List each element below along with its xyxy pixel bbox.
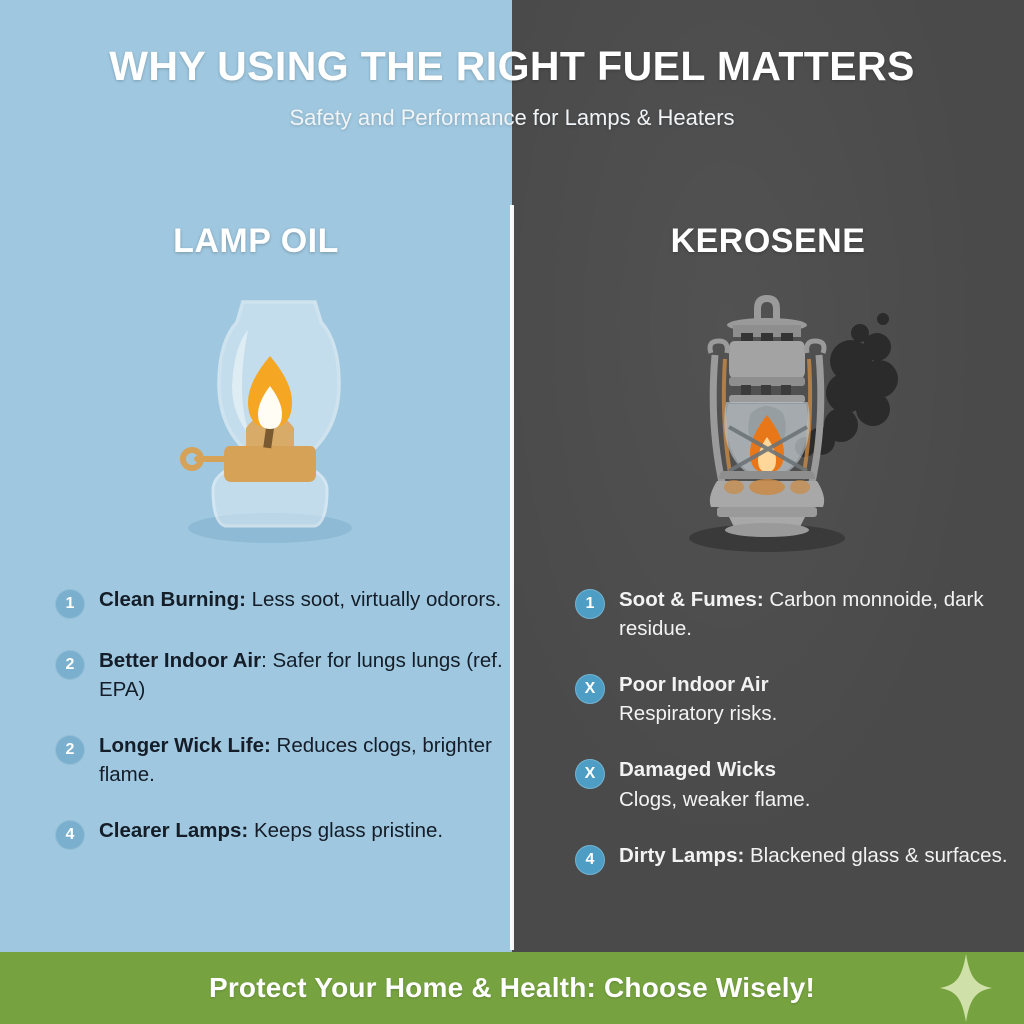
list-item: X Poor Indoor Air Respiratory risks. <box>575 670 1024 728</box>
badge-number: 1 <box>55 589 85 619</box>
badge-number: 1 <box>575 589 605 619</box>
list-item: 2 Better Indoor Air: Safer for lungs lun… <box>55 646 505 704</box>
list-item-label: Longer Wick Life: <box>99 734 271 757</box>
list-item: 4 Clearer Lamps: Keeps glass pristine. <box>55 816 505 850</box>
badge-cross-icon: X <box>575 674 605 704</box>
list-item-text: Poor Indoor Air Respiratory risks. <box>619 670 777 728</box>
list-item: 1 Soot & Fumes: Carbon monnoide, dark re… <box>575 585 1024 643</box>
oil-lamp-illustration <box>150 278 390 553</box>
list-item-label: Better Indoor Air <box>99 649 261 672</box>
list-item-text: Dirty Lamps: Blackened glass & surfaces. <box>619 841 1008 870</box>
list-item-desc: Less soot, virtually odorors. <box>246 588 501 611</box>
header: WHY USING THE RIGHT FUEL MATTERS Safety … <box>0 0 1024 150</box>
list-item-label: Clean Burning: <box>99 588 246 611</box>
page-title: WHY USING THE RIGHT FUEL MATTERS <box>0 46 1024 87</box>
list-item: X Damaged Wicks Clogs, weaker flame. <box>575 755 1024 813</box>
list-item-desc: Clogs, weaker flame. <box>619 788 810 811</box>
sparkle-star-icon <box>938 952 994 1024</box>
footer-banner: Protect Your Home & Health: Choose Wisel… <box>0 952 1024 1024</box>
list-item-desc: Keeps glass pristine. <box>248 819 443 842</box>
vertical-divider <box>510 205 514 950</box>
page-subtitle: Safety and Performance for Lamps & Heate… <box>0 107 1024 129</box>
list-item-text: Damaged Wicks Clogs, weaker flame. <box>619 755 810 813</box>
list-item-label: Damaged Wicks <box>619 758 776 781</box>
list-item-text: Better Indoor Air: Safer for lungs lungs… <box>99 646 505 704</box>
list-item: 1 Clean Burning: Less soot, virtually od… <box>55 585 505 619</box>
list-item-label: Poor Indoor Air <box>619 673 769 696</box>
list-item-desc: Respiratory risks. <box>619 702 777 725</box>
list-item-text: Clearer Lamps: Keeps glass pristine. <box>99 816 443 845</box>
list-item-label: Dirty Lamps: <box>619 844 744 867</box>
list-item-desc: Blackened glass & surfaces. <box>744 844 1007 867</box>
benefits-list-lamp-oil: 1 Clean Burning: Less soot, virtually od… <box>55 585 505 877</box>
column-heading-lamp-oil: LAMP OIL <box>0 222 512 261</box>
badge-cross-icon: X <box>575 759 605 789</box>
list-item-label: Soot & Fumes: <box>619 588 764 611</box>
badge-number: 4 <box>55 820 85 850</box>
list-item-text: Clean Burning: Less soot, virtually odor… <box>99 585 501 614</box>
drawbacks-list-kerosene: 1 Soot & Fumes: Carbon monnoide, dark re… <box>575 585 1024 902</box>
badge-number: 2 <box>55 650 85 680</box>
kerosene-lantern-illustration <box>655 275 920 555</box>
list-item: 2 Longer Wick Life: Reduces clogs, brigh… <box>55 731 505 789</box>
list-item-text: Longer Wick Life: Reduces clogs, brighte… <box>99 731 505 789</box>
footer-message: Protect Your Home & Health: Choose Wisel… <box>209 972 815 1004</box>
list-item-label: Clearer Lamps: <box>99 819 248 842</box>
list-item: 4 Dirty Lamps: Blackened glass & surface… <box>575 841 1024 875</box>
infographic-canvas: WHY USING THE RIGHT FUEL MATTERS Safety … <box>0 0 1024 1024</box>
list-item-text: Soot & Fumes: Carbon monnoide, dark resi… <box>619 585 1024 643</box>
column-heading-kerosene: KEROSENE <box>512 222 1024 261</box>
badge-number: 2 <box>55 735 85 765</box>
badge-number: 4 <box>575 845 605 875</box>
